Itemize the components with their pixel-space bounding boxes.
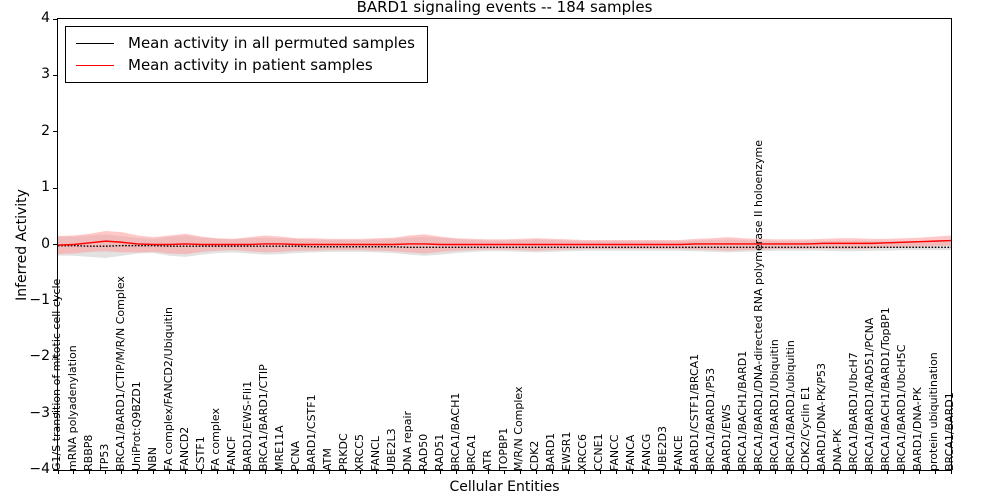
x-tick-label: FANCF	[226, 436, 238, 471]
legend-item-permuted: Mean activity in all permuted samples	[76, 32, 415, 54]
figure-canvas: BARD1 signaling events -- 184 samples In…	[0, 0, 1000, 500]
legend-line-icon-permuted	[76, 43, 114, 44]
x-tick-label: XRCC5	[354, 434, 366, 471]
x-tick-label: TP53	[99, 444, 111, 471]
x-tick-label: BRCA1/BACH1/BARD1/TopBP1	[880, 307, 892, 471]
x-tick-label: G1/S transition of mitotic cell cycle	[51, 279, 63, 471]
x-tick-label: FA complex/FANCD2/Ubiquitin	[163, 307, 175, 471]
x-tick-label: BRCA1	[466, 434, 478, 471]
legend-line-icon-patient	[76, 65, 114, 66]
x-tick-label: BRCA1/BARD1/CTIP	[258, 364, 270, 471]
x-tick-label: UBE2D3	[657, 426, 669, 471]
x-tick-label: RAD50	[418, 434, 430, 471]
x-tick-label: BRCA1/BARD1/UbcH5C	[896, 345, 908, 471]
x-tick-label: mRNA polyadenylation	[67, 345, 79, 471]
x-tick-label: FA complex	[210, 408, 222, 471]
x-axis-label: Cellular Entities	[57, 479, 952, 495]
y-tick-label: −3	[29, 405, 50, 421]
legend-item-patient: Mean activity in patient samples	[76, 54, 415, 76]
x-tick-label: PCNA	[290, 441, 302, 471]
x-tick-label: M/R/N Complex	[513, 386, 525, 471]
x-tick-label: DNA repair	[402, 411, 414, 471]
y-tick-label: −2	[29, 348, 50, 364]
x-tick-label: BARD1/CSTF1/BRCA1	[689, 354, 701, 471]
y-tick-label: 0	[41, 236, 50, 252]
x-tick-label: UniProt:Q9BZD1	[131, 381, 143, 471]
x-tick-label: BARD1/EWS	[721, 404, 733, 471]
x-tick-label: BARD1/CSTF1	[306, 394, 318, 471]
y-tick-label: −1	[29, 292, 50, 308]
x-tick-label: FANCD2	[179, 427, 191, 471]
x-tick-label: CSTF1	[195, 436, 207, 471]
y-tick-label: −4	[29, 461, 50, 477]
x-tick-label: RBBP8	[83, 435, 95, 471]
x-tick-label: CDK2	[529, 441, 541, 471]
x-tick-label: CDK2/Cyclin E1	[800, 386, 812, 471]
x-tick-label: BRCA1/BARD1/DNA-directed RNA polymerase …	[753, 140, 765, 471]
x-tick-label: MRE11A	[274, 425, 286, 471]
x-tick-label: ATM	[322, 448, 334, 471]
x-tick-label: NBN	[147, 447, 159, 471]
x-tick-label: BARD1/EWS-Fli1	[242, 381, 254, 471]
legend-label-patient: Mean activity in patient samples	[128, 56, 373, 74]
x-tick-label: BRCA1/BARD1/Ubiquitin	[769, 339, 781, 471]
x-tick-label: ATR	[482, 450, 494, 471]
x-tick-label: XRCC6	[577, 434, 589, 471]
x-tick-label: PRKDC	[338, 433, 350, 471]
x-tick-label: BRCA1/BARD1	[944, 392, 956, 471]
legend-label-permuted: Mean activity in all permuted samples	[128, 34, 415, 52]
y-tick-label: 1	[41, 179, 50, 195]
x-tick-label: FANCL	[370, 436, 382, 471]
y-axis-label: Inferred Activity	[14, 189, 30, 301]
x-tick-label: EWSR1	[561, 432, 573, 471]
x-tick-label: BARD1/DNA-PK/P53	[816, 363, 828, 471]
x-tick-label: RAD51	[434, 434, 446, 471]
x-tick-label: TOPBP1	[498, 428, 510, 471]
x-tick-label: FANCG	[641, 434, 653, 471]
x-tick-label: BARD1	[545, 433, 557, 471]
x-tick-label: FANCE	[673, 435, 685, 471]
legend: Mean activity in all permuted samples Me…	[65, 26, 428, 83]
x-tick-label: FANCC	[609, 435, 621, 471]
x-tick-label: BRCA1/BARD1/P53	[705, 368, 717, 471]
y-tick-label: 2	[41, 123, 50, 139]
x-tick-label: protein ubiquitination	[928, 352, 940, 471]
x-tick-label: UBE2L3	[386, 428, 398, 471]
x-tick-label: BARD1/DNA-PK	[912, 387, 924, 471]
x-tick-label: BRCA1/BARD1/ubiquitin	[785, 340, 797, 471]
x-tick-label: DNA-PK	[832, 429, 844, 471]
y-tick-label: 4	[41, 10, 50, 26]
x-tick-label: BRCA1/BARD1/RAD51/PCNA	[864, 318, 876, 471]
x-tick-label: BRCA1/BARD1/UbcH7	[848, 352, 860, 471]
x-tick-label: FANCA	[625, 435, 637, 471]
y-tick-label: 3	[41, 66, 50, 82]
x-tick-label: BRCA1/BACH1/BARD1	[737, 351, 749, 471]
x-tick-label: BRCA1/BACH1	[450, 393, 462, 471]
x-tick-label: CCNE1	[593, 433, 605, 471]
x-tick-label: BRCA1/BARD1/CTIP/M/R/N Complex	[115, 276, 127, 471]
